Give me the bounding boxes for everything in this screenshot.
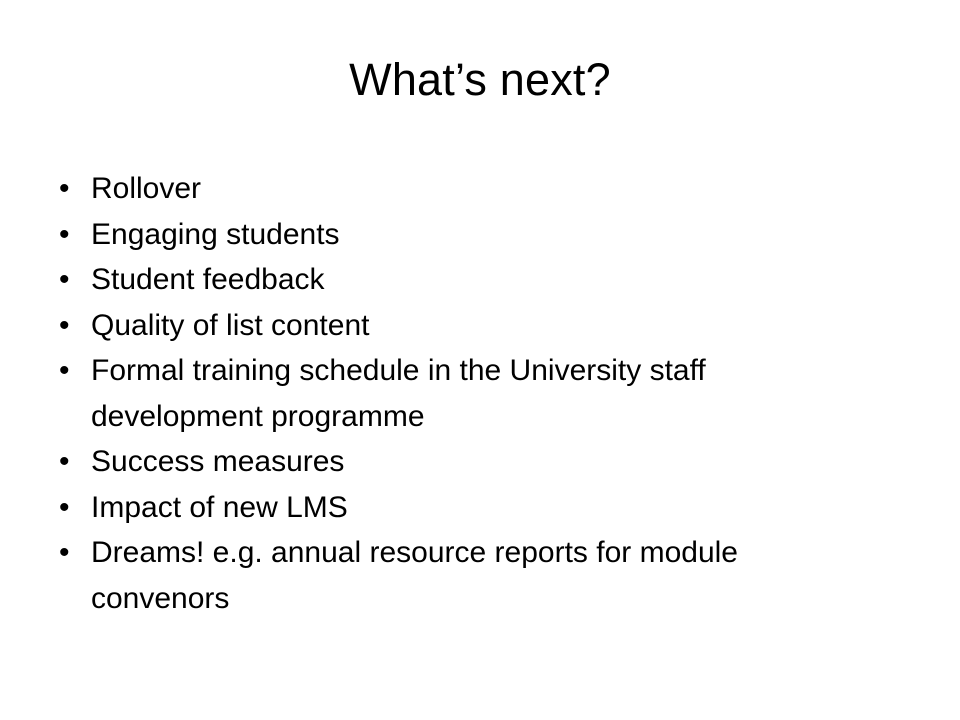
list-item-label: Engaging students [91,212,791,258]
presentation-slide: What’s next? • Rollover • Engaging stude… [0,0,960,720]
bullet-point-icon: • [59,485,77,531]
list-item: • Rollover [52,166,791,212]
list-item-label: Quality of list content [91,303,791,349]
list-item-label: Impact of new LMS [91,485,791,531]
list-item: • Quality of list content [52,303,791,349]
list-item: • Engaging students [52,212,791,258]
list-item-label: Rollover [91,166,791,212]
list-item: • Impact of new LMS [52,485,791,531]
bullet-point-icon: • [59,530,77,576]
list-item-label: Dreams! e.g. annual resource reports for… [91,530,791,621]
bullet-point-icon: • [59,439,77,485]
list-item-label: Success measures [91,439,791,485]
list-item-label: Student feedback [91,257,791,303]
list-item: • Formal training schedule in the Univer… [52,348,791,439]
list-item: • Student feedback [52,257,791,303]
bullet-list: • Rollover • Engaging students • Student… [52,166,812,621]
bullet-point-icon: • [59,303,77,349]
bullet-point-icon: • [59,166,77,212]
list-item: • Success measures [52,439,791,485]
list-item: • Dreams! e.g. annual resource reports f… [52,530,791,621]
slide-title: What’s next? [0,52,960,108]
bullet-point-icon: • [59,212,77,258]
bullet-point-icon: • [59,348,77,394]
bullet-point-icon: • [59,257,77,303]
list-item-label: Formal training schedule in the Universi… [91,348,791,439]
